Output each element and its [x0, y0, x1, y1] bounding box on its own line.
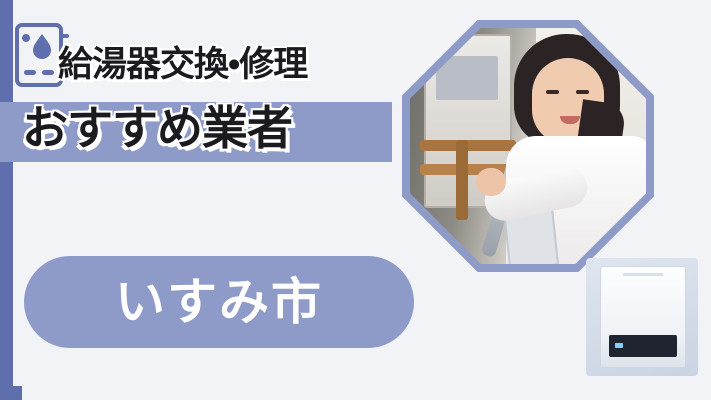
city-label: いすみ市 [115, 277, 323, 327]
water-heater-unit-photo [586, 258, 698, 376]
headline-block: 給湯器交換•修理 おすすめ業者 [22, 36, 442, 87]
headline-line2: おすすめ業者 [22, 92, 452, 158]
banner: 給湯器交換•修理 おすすめ業者 いすみ市 [0, 0, 711, 400]
headline-line1: 給湯器交換•修理 [58, 36, 442, 87]
technician-photo [410, 28, 646, 264]
bottom-left-accent-bar [0, 386, 22, 400]
left-accent-bar [0, 0, 13, 400]
city-pill: いすみ市 [24, 256, 414, 348]
